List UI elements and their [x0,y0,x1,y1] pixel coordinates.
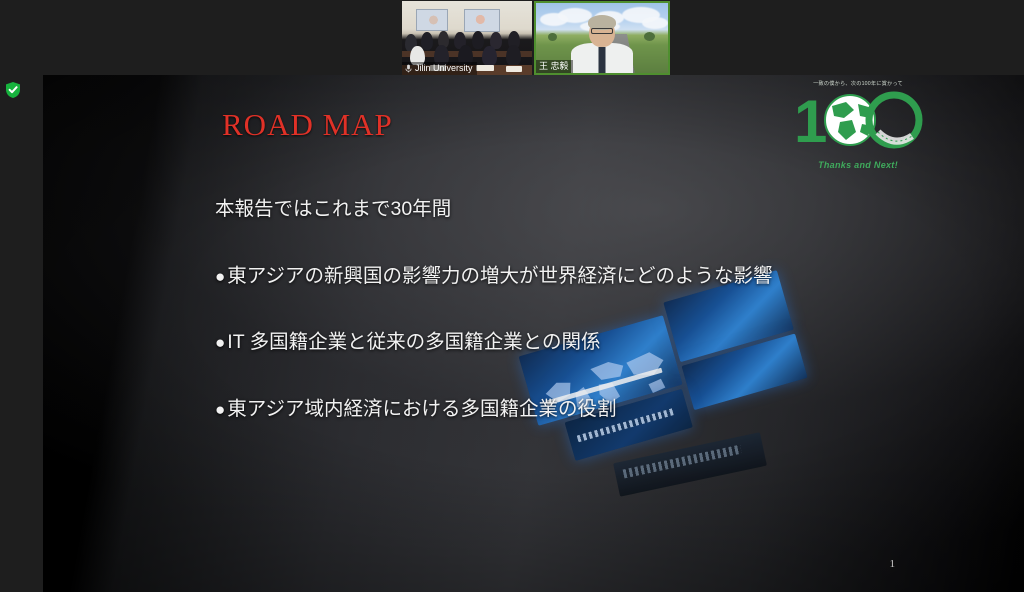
logo-tagline: 一致の僕から、次の100年に賞かって [790,80,926,87]
participant-name-label: Jilin University [415,64,473,73]
slide-title: ROAD MAP [222,107,393,143]
bullet-marker: ● [215,401,225,418]
slide-bullet-1: ● 東アジアの新興国の影響力の増大が世界経済にどのような影響 [215,267,964,287]
participant-tile-jilin-university[interactable]: Jilin University [402,1,532,75]
slide-body: 本報告ではこれまで30年間 ● 東アジアの新興国の影響力の増大が世界経済にどのよ… [215,200,964,419]
logo-mark: 1 [790,88,926,150]
logo-slogan: Thanks and Next! [790,160,926,170]
bullet-text: 東アジアの新興国の影響力の増大が世界経済にどのような影響 [227,267,772,287]
shared-slide[interactable]: 一致の僕から、次の100年に賞かって 1 Thanks and Next! RO… [43,75,1024,592]
svg-text:1: 1 [794,88,827,150]
participant-name-label: 王 忠毅 [539,62,569,71]
bullet-text: 東アジア域内経済における多国籍企業の役割 [227,400,616,420]
slide-bullet-3: ● 東アジア域内経済における多国籍企業の役割 [215,400,964,420]
participant-filmstrip: Jilin University [402,1,670,75]
slide-intro-line: 本報告ではこれまで30年間 [215,200,964,220]
speaker-figure [570,17,634,73]
shield-check-icon[interactable] [5,81,21,99]
wall-map-icon [464,9,500,32]
100th-anniversary-logo: 一致の僕から、次の100年に賞かって 1 Thanks and Next! [790,80,926,172]
participant-tile-wang-zhongyi[interactable]: 王 忠毅 [534,1,670,75]
participant-name-bar: 王 忠毅 [536,60,573,73]
microphone-icon [405,64,412,73]
participant-name-bar: Jilin University [402,62,477,75]
bullet-marker: ● [215,334,225,351]
bullet-text: IT 多国籍企業と従来の多国籍企業との関係 [227,333,600,353]
screen-share-view: Jilin University [0,0,1024,592]
wall-map-icon [416,9,448,31]
slide-page-number: 1 [890,558,896,570]
bullet-marker: ● [215,268,225,285]
slide-bullet-2: ● IT 多国籍企業と従来の多国籍企業との関係 [215,333,964,353]
